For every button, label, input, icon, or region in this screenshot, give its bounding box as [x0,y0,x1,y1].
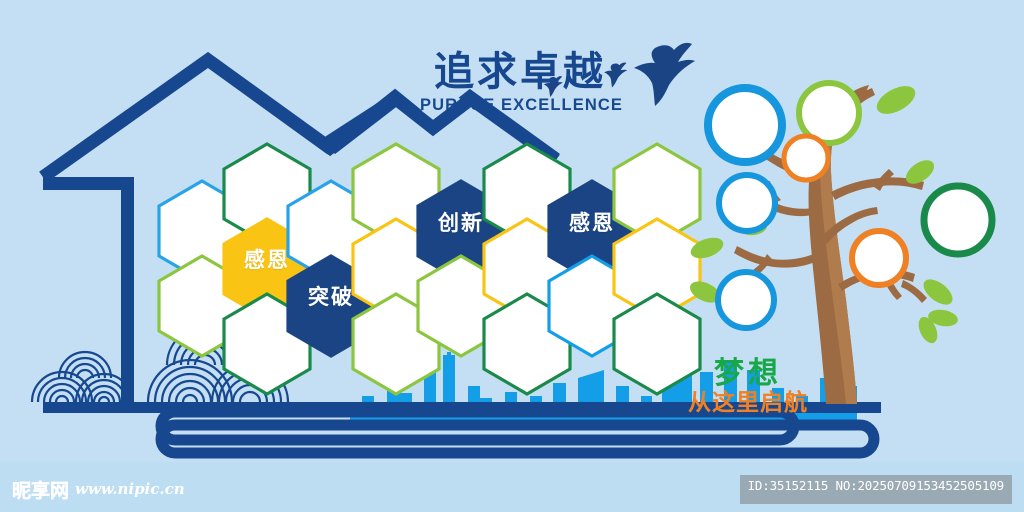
photo-circle[interactable] [852,231,906,285]
photo-circle[interactable] [708,88,782,162]
slogan-block: 梦想 从这里启航 [668,358,828,416]
watermark-id: ID:35152115 NO:20250709153452505109 [740,475,1012,504]
title-chinese: 追求卓越 [420,52,620,93]
slogan-main: 梦想 [668,358,828,390]
artboard: 追求卓越 PURSUE EXCELLENCE 感恩 突破 创新 感恩 梦想 从这… [0,0,1024,462]
slogan-sub: 从这里启航 [668,391,828,416]
poster-title: 追求卓越 PURSUE EXCELLENCE [420,52,620,115]
watermark-logo: 昵享网 www.nipic.cn [12,478,185,500]
hex-label-ganen-2: 感恩 [569,207,615,237]
title-english: PURSUE EXCELLENCE [420,96,620,115]
photo-circle[interactable] [784,136,828,180]
photo-circle[interactable] [718,272,774,328]
photo-circle[interactable] [924,186,992,254]
watermark-url: www.nipic.cn [75,480,185,498]
poster-canvas: 追求卓越 PURSUE EXCELLENCE 感恩 突破 创新 感恩 梦想 从这… [0,0,1024,512]
watermark-brand: 昵享网 [12,476,69,503]
photo-circle[interactable] [719,175,775,231]
hex-label-tupo: 突破 [308,281,354,311]
hex-label-ganen-1: 感恩 [244,244,290,274]
hexagon-grid [159,144,700,394]
hex-label-chuangxin: 创新 [438,207,484,237]
